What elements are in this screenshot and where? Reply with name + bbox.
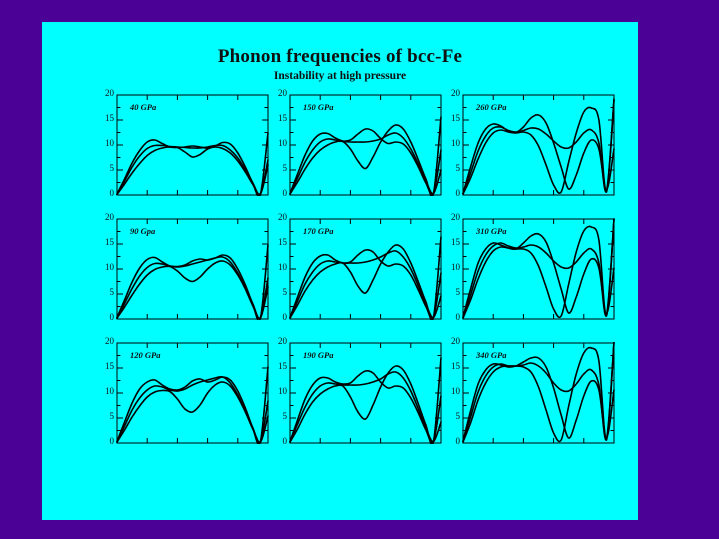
dispersion-panel-40-gpa: 2015105040 GPa bbox=[94, 88, 267, 212]
panel-pressure-label: 310 GPa bbox=[476, 226, 506, 236]
y-tick-label: 10 bbox=[440, 138, 460, 148]
y-tick-label: 10 bbox=[440, 386, 460, 396]
y-tick-label: 20 bbox=[440, 88, 460, 98]
y-tick-label: 15 bbox=[94, 361, 114, 371]
y-axis-labels: 20151050 bbox=[94, 88, 114, 200]
y-tick-label: 20 bbox=[267, 336, 287, 346]
y-tick-label: 10 bbox=[267, 262, 287, 272]
dispersion-panel-310-gpa: 20151050310 GPa bbox=[440, 212, 613, 336]
panel-pressure-label: 40 GPa bbox=[130, 102, 156, 112]
y-tick-label: 0 bbox=[94, 312, 114, 322]
y-tick-label: 5 bbox=[267, 287, 287, 297]
y-tick-label: 10 bbox=[94, 262, 114, 272]
y-tick-label: 10 bbox=[94, 386, 114, 396]
phonon-branch-curve bbox=[463, 115, 614, 194]
y-tick-label: 20 bbox=[440, 212, 460, 222]
panel-pressure-label: 340 GPa bbox=[476, 350, 506, 360]
y-tick-label: 5 bbox=[440, 411, 460, 421]
phonon-branch-curve bbox=[117, 245, 268, 320]
y-tick-label: 0 bbox=[440, 436, 460, 446]
dispersion-panel-120-gpa: 20151050120 GPa bbox=[94, 336, 267, 460]
y-axis-labels: 20151050 bbox=[267, 336, 287, 448]
y-tick-label: 5 bbox=[94, 163, 114, 173]
y-axis-labels: 20151050 bbox=[440, 336, 460, 448]
panel-grid: 2015105040 GPa20151050150 GPa20151050260… bbox=[94, 88, 614, 460]
y-tick-label: 20 bbox=[94, 88, 114, 98]
y-tick-label: 0 bbox=[267, 312, 287, 322]
page-subtitle: Instability at high pressure bbox=[42, 70, 638, 82]
y-tick-label: 15 bbox=[267, 237, 287, 247]
y-tick-label: 10 bbox=[440, 262, 460, 272]
page-title: Phonon frequencies of bcc-Fe bbox=[42, 46, 638, 68]
y-tick-label: 0 bbox=[94, 436, 114, 446]
y-tick-label: 15 bbox=[267, 361, 287, 371]
y-tick-label: 15 bbox=[440, 237, 460, 247]
y-tick-label: 15 bbox=[94, 113, 114, 123]
y-tick-label: 10 bbox=[267, 138, 287, 148]
y-tick-label: 0 bbox=[267, 188, 287, 198]
y-tick-label: 5 bbox=[440, 287, 460, 297]
y-tick-label: 5 bbox=[94, 287, 114, 297]
y-tick-label: 20 bbox=[267, 212, 287, 222]
y-axis-labels: 20151050 bbox=[267, 88, 287, 200]
y-tick-label: 20 bbox=[267, 88, 287, 98]
y-axis-labels: 20151050 bbox=[440, 212, 460, 324]
dispersion-panel-340-gpa: 20151050340 GPa bbox=[440, 336, 613, 460]
y-tick-label: 15 bbox=[440, 361, 460, 371]
y-tick-label: 5 bbox=[267, 163, 287, 173]
y-tick-label: 15 bbox=[440, 113, 460, 123]
dispersion-panel-150-gpa: 20151050150 GPa bbox=[267, 88, 440, 212]
panel-pressure-label: 90 Gpa bbox=[130, 226, 155, 236]
panel-pressure-label: 170 GPa bbox=[303, 226, 333, 236]
y-tick-label: 5 bbox=[440, 163, 460, 173]
y-tick-label: 0 bbox=[440, 312, 460, 322]
y-tick-label: 0 bbox=[267, 436, 287, 446]
dispersion-panel-90-gpa: 2015105090 Gpa bbox=[94, 212, 267, 336]
phonon-branch-curve bbox=[290, 251, 441, 318]
y-axis-labels: 20151050 bbox=[440, 88, 460, 200]
y-tick-label: 15 bbox=[267, 113, 287, 123]
dispersion-panel-170-gpa: 20151050170 GPa bbox=[267, 212, 440, 336]
y-tick-label: 10 bbox=[267, 386, 287, 396]
panel-pressure-label: 150 GPa bbox=[303, 102, 333, 112]
dispersion-panel-260-gpa: 20151050260 GPa bbox=[440, 88, 613, 212]
phonon-branch-curve bbox=[290, 372, 441, 442]
panel-pressure-label: 190 GPa bbox=[303, 350, 333, 360]
y-tick-label: 5 bbox=[267, 411, 287, 421]
y-axis-labels: 20151050 bbox=[94, 336, 114, 448]
y-tick-label: 20 bbox=[94, 336, 114, 346]
y-tick-label: 20 bbox=[440, 336, 460, 346]
slide-canvas: Phonon frequencies of bcc-Fe Instability… bbox=[42, 22, 638, 520]
y-tick-label: 10 bbox=[94, 138, 114, 148]
panel-pressure-label: 120 GPa bbox=[130, 350, 160, 360]
y-tick-label: 20 bbox=[94, 212, 114, 222]
phonon-branch-curve bbox=[463, 99, 614, 194]
y-tick-label: 0 bbox=[94, 188, 114, 198]
panel-pressure-label: 260 GPa bbox=[476, 102, 506, 112]
y-tick-label: 15 bbox=[94, 237, 114, 247]
y-tick-label: 5 bbox=[94, 411, 114, 421]
y-tick-label: 0 bbox=[440, 188, 460, 198]
y-axis-labels: 20151050 bbox=[267, 212, 287, 324]
y-axis-labels: 20151050 bbox=[94, 212, 114, 324]
dispersion-panel-190-gpa: 20151050190 GPa bbox=[267, 336, 440, 460]
